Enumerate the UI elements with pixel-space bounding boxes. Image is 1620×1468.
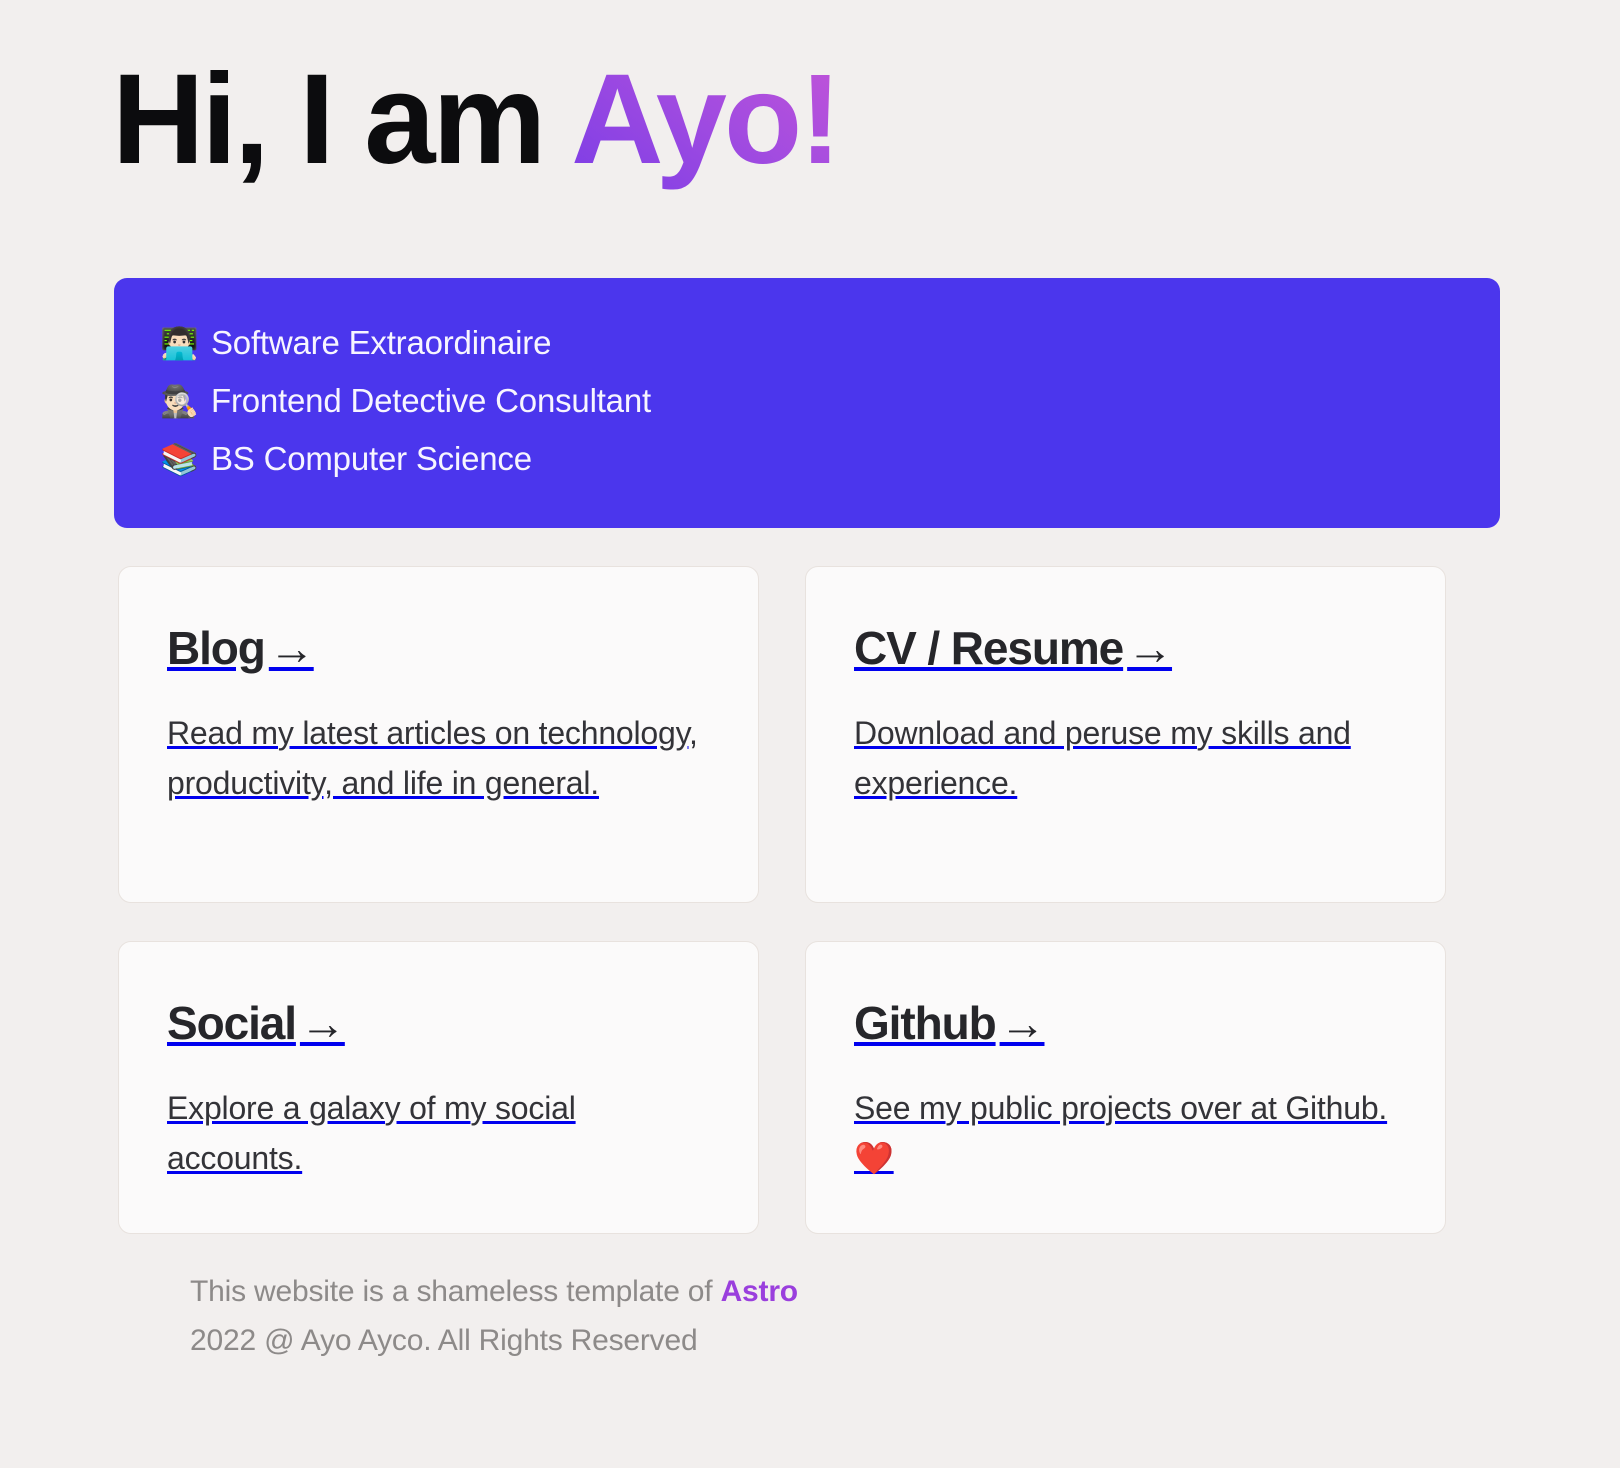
card-description: Explore a galaxy of my social accounts.: [167, 1083, 712, 1184]
fact-label: Frontend Detective Consultant: [211, 382, 651, 420]
detective-emoji-icon: 🕵🏻‍♂️: [160, 386, 198, 417]
card-blog[interactable]: Blog→ Read my latest articles on technol…: [118, 566, 759, 903]
card-title-text: CV / Resume: [854, 622, 1123, 674]
fact-row: 👨🏻‍💻 Software Extraordinaire: [160, 314, 1500, 372]
footer-credit-prefix: This website is a shameless template of: [190, 1275, 721, 1308]
card-description: See my public projects over at Github. ❤…: [854, 1083, 1399, 1184]
card-cv-resume[interactable]: CV / Resume→ Download and peruse my skil…: [805, 566, 1446, 903]
link-card-grid: Blog→ Read my latest articles on technol…: [118, 566, 1446, 1234]
arrow-right-icon: →: [269, 622, 314, 674]
card-title-text: Blog: [167, 622, 265, 674]
card-social[interactable]: Social→ Explore a galaxy of my social ac…: [118, 941, 759, 1234]
hero-greeting: Hi, I am: [112, 48, 571, 191]
hero-name: Ayo!: [571, 48, 839, 191]
fact-row: 🕵🏻‍♂️ Frontend Detective Consultant: [160, 372, 1500, 430]
fact-label: Software Extraordinaire: [211, 324, 551, 362]
card-title-text: Github: [854, 997, 996, 1049]
card-title: Social→: [167, 998, 714, 1049]
arrow-right-icon: →: [300, 997, 345, 1049]
footer-credit-line: This website is a shameless template of …: [190, 1268, 798, 1317]
portfolio-landing-page: Hi, I am Ayo! 👨🏻‍💻 Software Extraordinai…: [0, 0, 1620, 1468]
card-description: Read my latest articles on technology, p…: [167, 708, 712, 809]
site-footer: This website is a shameless template of …: [190, 1268, 798, 1365]
arrow-right-icon: →: [1127, 622, 1172, 674]
card-title: Github→: [854, 998, 1401, 1049]
card-github[interactable]: Github→ See my public projects over at G…: [805, 941, 1446, 1234]
fact-row: 📚 BS Computer Science: [160, 430, 1500, 488]
books-emoji-icon: 📚: [160, 444, 198, 475]
card-title-text: Social: [167, 997, 296, 1049]
man-technologist-emoji-icon: 👨🏻‍💻: [160, 328, 198, 359]
facts-panel: 👨🏻‍💻 Software Extraordinaire 🕵🏻‍♂️ Front…: [114, 278, 1500, 528]
astro-link[interactable]: Astro: [721, 1275, 798, 1308]
card-description: Download and peruse my skills and experi…: [854, 708, 1399, 809]
card-title: Blog→: [167, 623, 714, 674]
page-title: Hi, I am Ayo!: [112, 48, 839, 191]
footer-copyright: 2022 @ Ayo Ayco. All Rights Reserved: [190, 1317, 798, 1366]
card-title: CV / Resume→: [854, 623, 1401, 674]
fact-label: BS Computer Science: [211, 440, 532, 478]
arrow-right-icon: →: [1000, 997, 1045, 1049]
